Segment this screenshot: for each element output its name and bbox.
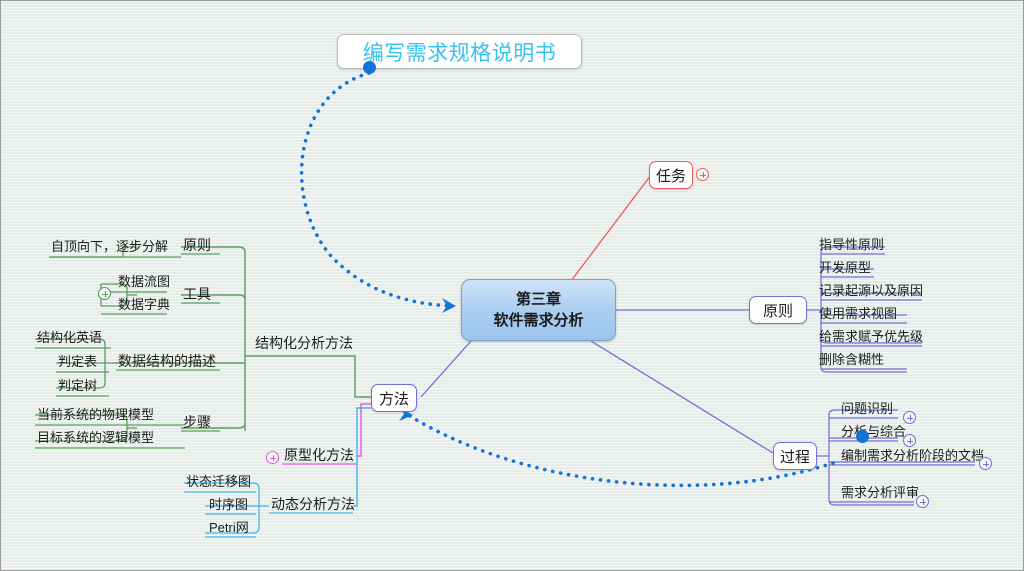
process-item-2[interactable]: 编制需求分析阶段的文档 (839, 448, 986, 465)
branch-principle[interactable]: 原则 (749, 296, 807, 324)
relationship-endpoint-dot-title[interactable] (363, 61, 376, 74)
process-item-2-expander-plus-icon[interactable] (979, 457, 992, 470)
mindmap-canvas: 编写需求规格说明书 第三章 软件需求分析 任务 原则 指导性原则 开发原型 记录… (0, 0, 1024, 571)
task-expander-plus-icon[interactable] (696, 168, 709, 181)
prototype-expander-plus-icon[interactable] (266, 451, 279, 464)
method-child-structured[interactable]: 结构化分析方法 (253, 335, 355, 352)
principle-item-0[interactable]: 指导性原则 (817, 237, 886, 254)
branch-process[interactable]: 过程 (773, 442, 817, 470)
branch-method[interactable]: 方法 (371, 384, 417, 412)
dynamic-item-0[interactable]: 状态迁移图 (184, 474, 253, 491)
principle-item-1[interactable]: 开发原型 (817, 260, 873, 277)
process-item-3[interactable]: 需求分析评审 (839, 485, 921, 502)
branch-process-label: 过程 (780, 446, 810, 467)
structured-group-tools[interactable]: 工具 (181, 286, 213, 303)
method-child-prototype[interactable]: 原型化方法 (282, 447, 356, 464)
branch-task-label: 任务 (656, 165, 686, 186)
structured-steps-item-1[interactable]: 目标系统的逻辑模型 (35, 430, 156, 447)
process-item-3-expander-plus-icon[interactable] (916, 495, 929, 508)
tools-expander-plus-icon[interactable] (98, 287, 111, 300)
root-node[interactable]: 第三章 软件需求分析 (461, 279, 616, 341)
principle-item-5[interactable]: 删除含糊性 (817, 352, 886, 369)
structured-datastruct-item-0[interactable]: 结构化英语 (35, 330, 104, 347)
structured-datastruct-item-2[interactable]: 判定树 (56, 378, 99, 395)
structured-principle-item-0[interactable]: 自顶向下，逐步分解 (49, 239, 170, 256)
structured-tools-item-0[interactable]: 数据流图 (116, 274, 172, 291)
principle-item-3[interactable]: 使用需求视图 (817, 306, 899, 323)
structured-group-steps[interactable]: 步骤 (181, 414, 213, 431)
structured-group-principle[interactable]: 原则 (181, 237, 213, 254)
process-item-1-expander-plus-icon[interactable] (903, 434, 916, 447)
root-node-line1: 第三章 (516, 289, 561, 310)
principle-item-4[interactable]: 给需求赋予优先级 (817, 329, 925, 346)
dynamic-item-2[interactable]: Petri网 (207, 520, 251, 537)
structured-group-datastruct[interactable]: 数据结构的描述 (116, 353, 218, 370)
dynamic-item-1[interactable]: 时序图 (207, 497, 250, 514)
principle-item-2[interactable]: 记录起源以及原因 (817, 283, 925, 300)
root-node-line2: 软件需求分析 (493, 310, 583, 331)
branch-task[interactable]: 任务 (649, 161, 693, 189)
structured-datastruct-item-1[interactable]: 判定表 (56, 354, 99, 371)
relationship-endpoint-dot-process[interactable] (856, 430, 869, 443)
title-topic-label: 编写需求规格说明书 (363, 37, 557, 67)
process-item-1[interactable]: 分析与综合 (839, 424, 908, 441)
branch-method-label: 方法 (379, 388, 409, 409)
process-item-0-expander-plus-icon[interactable] (903, 411, 916, 424)
branch-principle-label: 原则 (763, 300, 793, 321)
structured-steps-item-0[interactable]: 当前系统的物理模型 (35, 407, 156, 424)
structured-tools-item-1[interactable]: 数据字典 (116, 297, 172, 314)
method-child-dynamic[interactable]: 动态分析方法 (269, 496, 357, 513)
process-item-0[interactable]: 问题识别 (839, 401, 895, 418)
